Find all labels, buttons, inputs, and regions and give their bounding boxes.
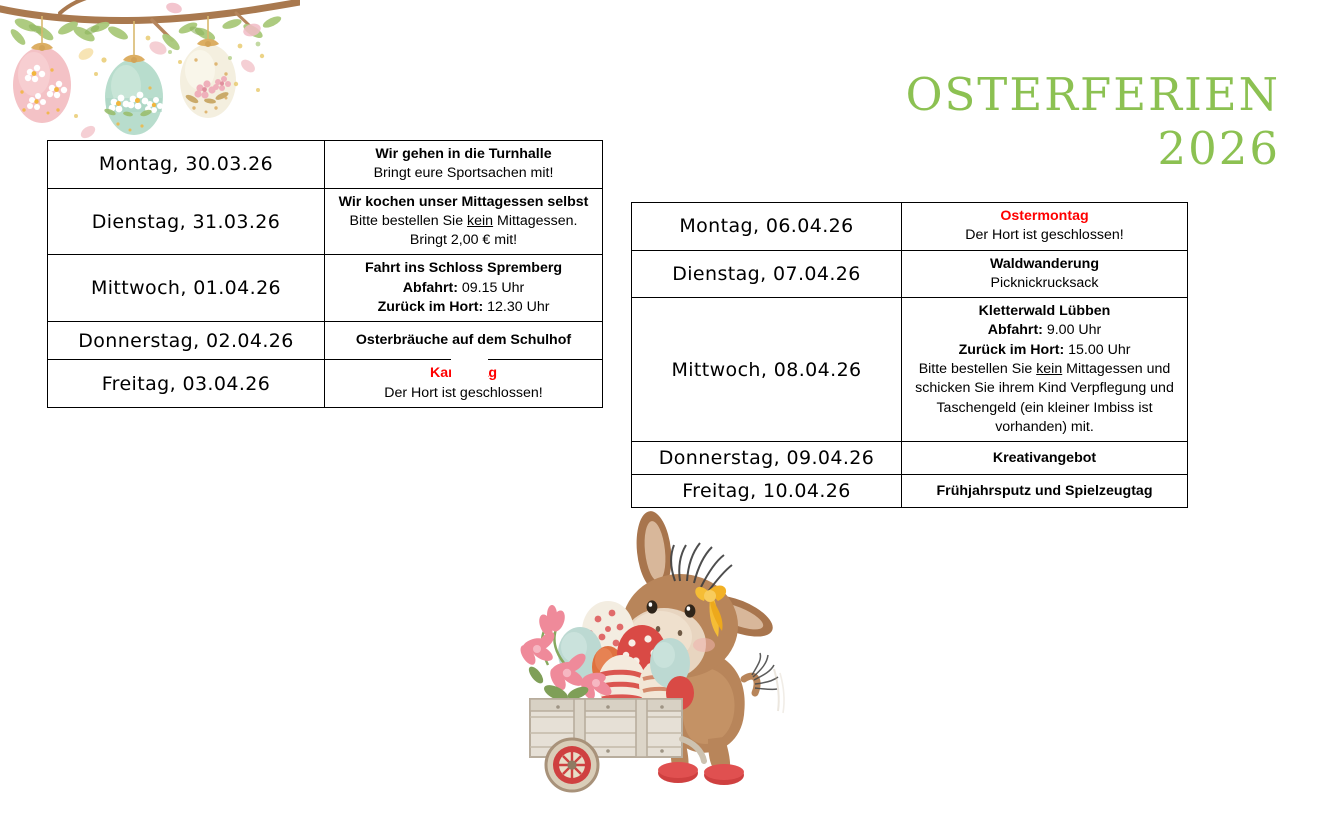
page-title-line-1: OSTERFERIEN xyxy=(906,68,1280,121)
date-cell: Mittwoch, 08.04.26 xyxy=(632,298,902,442)
white-redaction-patch xyxy=(451,353,488,381)
easter-egg-pink xyxy=(13,43,71,123)
page-title-line-2: 2026 xyxy=(760,122,1280,176)
table-row: Mittwoch, 01.04.26 Fahrt ins Schloss Spr… xyxy=(48,255,603,322)
detail-line-obscured: Der Hort ist geschlossen! xyxy=(331,384,596,403)
date-cell: Dienstag, 07.04.26 xyxy=(632,250,902,298)
schedule-table-week-1: Montag, 30.03.26 Wir gehen in die Turnha… xyxy=(47,140,603,408)
pink-flowers xyxy=(518,605,615,704)
detail-line: Wir gehen in die Turnhalle xyxy=(331,145,596,164)
page-title: OSTERFERIEN 2026 xyxy=(760,14,1280,230)
detail-line: Abfahrt: 9.00 Uhr xyxy=(908,321,1181,340)
table-row: Montag, 06.04.26 Ostermontag Der Hort is… xyxy=(632,203,1188,251)
detail-line: Taschengeld (ein kleiner Imbiss ist xyxy=(908,399,1181,418)
detail-line: Osterbräuche auf dem Schulhof xyxy=(331,331,596,350)
date-cell: Donnerstag, 09.04.26 xyxy=(632,442,902,475)
detail-line: Zurück im Hort: 15.00 Uhr xyxy=(908,341,1181,360)
date-cell: Mittwoch, 01.04.26 xyxy=(48,255,325,322)
detail-line: Frühjahrsputz und Spielzeugtag xyxy=(908,482,1181,501)
table-row: Montag, 30.03.26 Wir gehen in die Turnha… xyxy=(48,141,603,189)
detail-line: Der Hort ist geschlossen! xyxy=(908,226,1181,245)
detail-cell: Waldwanderung Picknickrucksack xyxy=(902,250,1188,298)
detail-line: schicken Sie ihrem Kind Verpflegung und xyxy=(908,379,1181,398)
detail-line: Wir kochen unser Mittagessen selbst xyxy=(331,193,596,212)
detail-cell: Fahrt ins Schloss Spremberg Abfahrt: 09.… xyxy=(325,255,603,322)
date-cell: Montag, 06.04.26 xyxy=(632,203,902,251)
detail-line: Kletterwald Lübben xyxy=(908,302,1181,321)
detail-line: vorhanden) mit. xyxy=(908,418,1181,437)
detail-cell: Wir gehen in die Turnhalle Bringt eure S… xyxy=(325,141,603,189)
detail-line: Zurück im Hort: 12.30 Uhr xyxy=(331,298,596,317)
detail-line: Bitte bestellen Sie kein Mittagessen und xyxy=(908,360,1181,379)
detail-line: Bitte bestellen Sie kein Mittagessen. xyxy=(331,212,596,231)
detail-line: Fahrt ins Schloss Spremberg xyxy=(331,259,596,278)
emphasis-kein: kein xyxy=(467,213,493,229)
yellow-bow xyxy=(695,585,726,637)
detail-cell: Kreativangebot xyxy=(902,442,1188,475)
table-row: Freitag, 10.04.26 Frühjahrsputz und Spie… xyxy=(632,475,1188,508)
wooden-cart xyxy=(530,699,704,791)
table-row: Dienstag, 07.04.26 Waldwanderung Picknic… xyxy=(632,250,1188,298)
easter-donkey-with-egg-cart-illustration xyxy=(512,503,802,793)
table-row: Donnerstag, 09.04.26 Kreativangebot xyxy=(632,442,1188,475)
easter-eggs-in-cart xyxy=(558,601,694,711)
detail-line: Waldwanderung xyxy=(908,255,1181,274)
schedule-table-week-2: Montag, 06.04.26 Ostermontag Der Hort is… xyxy=(631,202,1188,508)
table-row: Dienstag, 31.03.26 Wir kochen unser Mitt… xyxy=(48,188,603,255)
table-row: Mittwoch, 08.04.26 Kletterwald Lübben Ab… xyxy=(632,298,1188,442)
detail-line: Abfahrt: 09.15 Uhr xyxy=(331,279,596,298)
date-cell: Montag, 30.03.26 xyxy=(48,141,325,189)
detail-line: Bringt 2,00 € mit! xyxy=(331,231,596,250)
date-cell: Dienstag, 31.03.26 xyxy=(48,188,325,255)
date-cell: Donnerstag, 02.04.26 xyxy=(48,322,325,360)
emphasis-kein: kein xyxy=(1036,361,1062,377)
detail-cell: Kletterwald Lübben Abfahrt: 9.00 Uhr Zur… xyxy=(902,298,1188,442)
detail-line: Picknickrucksack xyxy=(908,274,1181,293)
detail-line-holiday: Ostermontag xyxy=(908,207,1181,226)
easter-egg-mint xyxy=(103,55,163,135)
easter-branch-with-hanging-eggs-illustration xyxy=(0,0,300,140)
detail-line: Kreativangebot xyxy=(908,449,1181,468)
date-cell: Freitag, 10.04.26 xyxy=(632,475,902,508)
detail-cell: Wir kochen unser Mittagessen selbst Bitt… xyxy=(325,188,603,255)
easter-egg-cream xyxy=(180,39,236,118)
detail-cell: Ostermontag Der Hort ist geschlossen! xyxy=(902,203,1188,251)
table-row: Freitag, 03.04.26 Karfreitag Der Hort is… xyxy=(48,360,603,408)
detail-line: Bringt eure Sportsachen mit! xyxy=(331,164,596,183)
table-row: Donnerstag, 02.04.26 Osterbräuche auf de… xyxy=(48,322,603,360)
date-cell: Freitag, 03.04.26 xyxy=(48,360,325,408)
detail-cell: Frühjahrsputz und Spielzeugtag xyxy=(902,475,1188,508)
